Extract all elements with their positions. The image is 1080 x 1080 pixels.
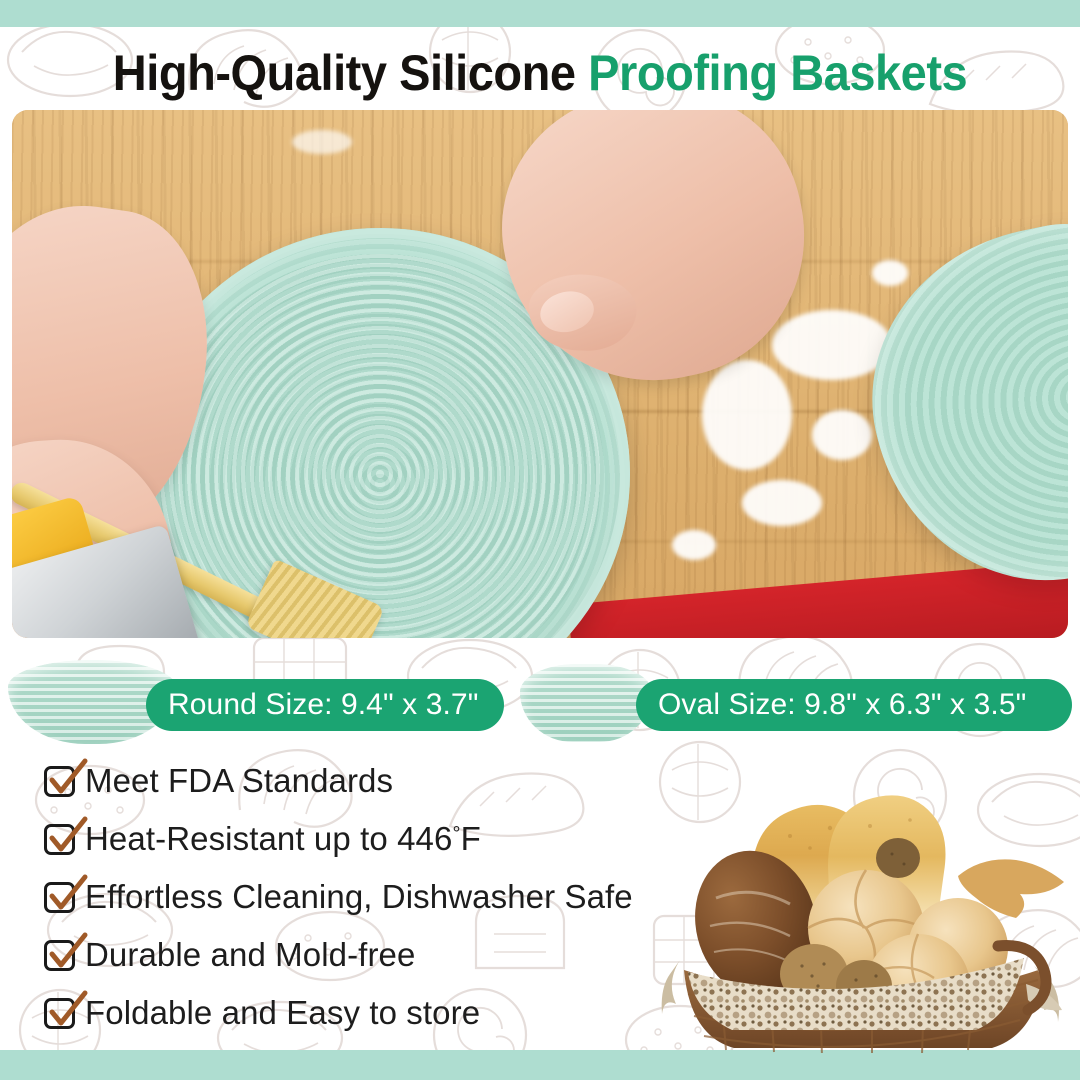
flour-scatter <box>672 530 716 560</box>
feature-label: Effortless Cleaning, Dishwasher Safe <box>85 878 633 916</box>
flour-scatter <box>812 410 872 460</box>
feature-label: Durable and Mold-free <box>85 936 415 974</box>
infographic-page: High-Quality Silicone Proofing Baskets <box>0 0 1080 1080</box>
flour-scatter <box>292 130 352 154</box>
checkbox-checked-icon <box>44 824 75 855</box>
checkbox-checked-icon <box>44 998 75 1029</box>
feature-item: Durable and Mold-free <box>44 926 704 984</box>
feature-label: Foldable and Easy to store <box>85 994 480 1032</box>
feature-item: Heat-Resistant up to 446°F <box>44 810 704 868</box>
degree-symbol: ° <box>452 823 460 845</box>
feature-item: Effortless Cleaning, Dishwasher Safe <box>44 868 704 926</box>
size-banner-row: Round Size: 9.4" x 3.7" Oval Size: 9.8" … <box>0 648 1080 748</box>
ribbon-left <box>662 960 680 1014</box>
flour-scatter <box>702 360 792 470</box>
flour-scatter <box>872 260 908 286</box>
top-mint-bar <box>0 0 1080 27</box>
feature-item: Foldable and Easy to store <box>44 984 704 1042</box>
oval-basket-thumbnail <box>520 664 652 742</box>
fahrenheit-symbol: F <box>461 820 481 857</box>
oval-size-banner: Oval Size: 9.8" x 6.3" x 3.5" <box>636 679 1072 731</box>
poppy-seed-bun <box>876 838 920 878</box>
feature-list: Meet FDA Standards Heat-Resistant up to … <box>44 752 704 1042</box>
checkbox-checked-icon <box>44 766 75 797</box>
feature-item: Meet FDA Standards <box>44 752 704 810</box>
page-title-part-one: High-Quality Silicone <box>113 45 588 101</box>
flour-scatter <box>742 480 822 526</box>
checkbox-checked-icon <box>44 940 75 971</box>
round-size-banner: Round Size: 9.4" x 3.7" <box>146 679 504 731</box>
feature-label: Meet FDA Standards <box>85 762 393 800</box>
page-title: High-Quality Silicone Proofing Baskets <box>32 40 1047 106</box>
hero-product-photo <box>12 110 1068 638</box>
feature-label-text: Heat-Resistant up to 446 <box>85 820 452 857</box>
bottom-mint-bar <box>0 1050 1080 1080</box>
feature-label: Heat-Resistant up to 446°F <box>85 820 481 858</box>
checkbox-checked-icon <box>44 882 75 913</box>
bread-basket-photo <box>660 748 1080 1053</box>
page-title-part-two: Proofing Baskets <box>588 45 967 101</box>
